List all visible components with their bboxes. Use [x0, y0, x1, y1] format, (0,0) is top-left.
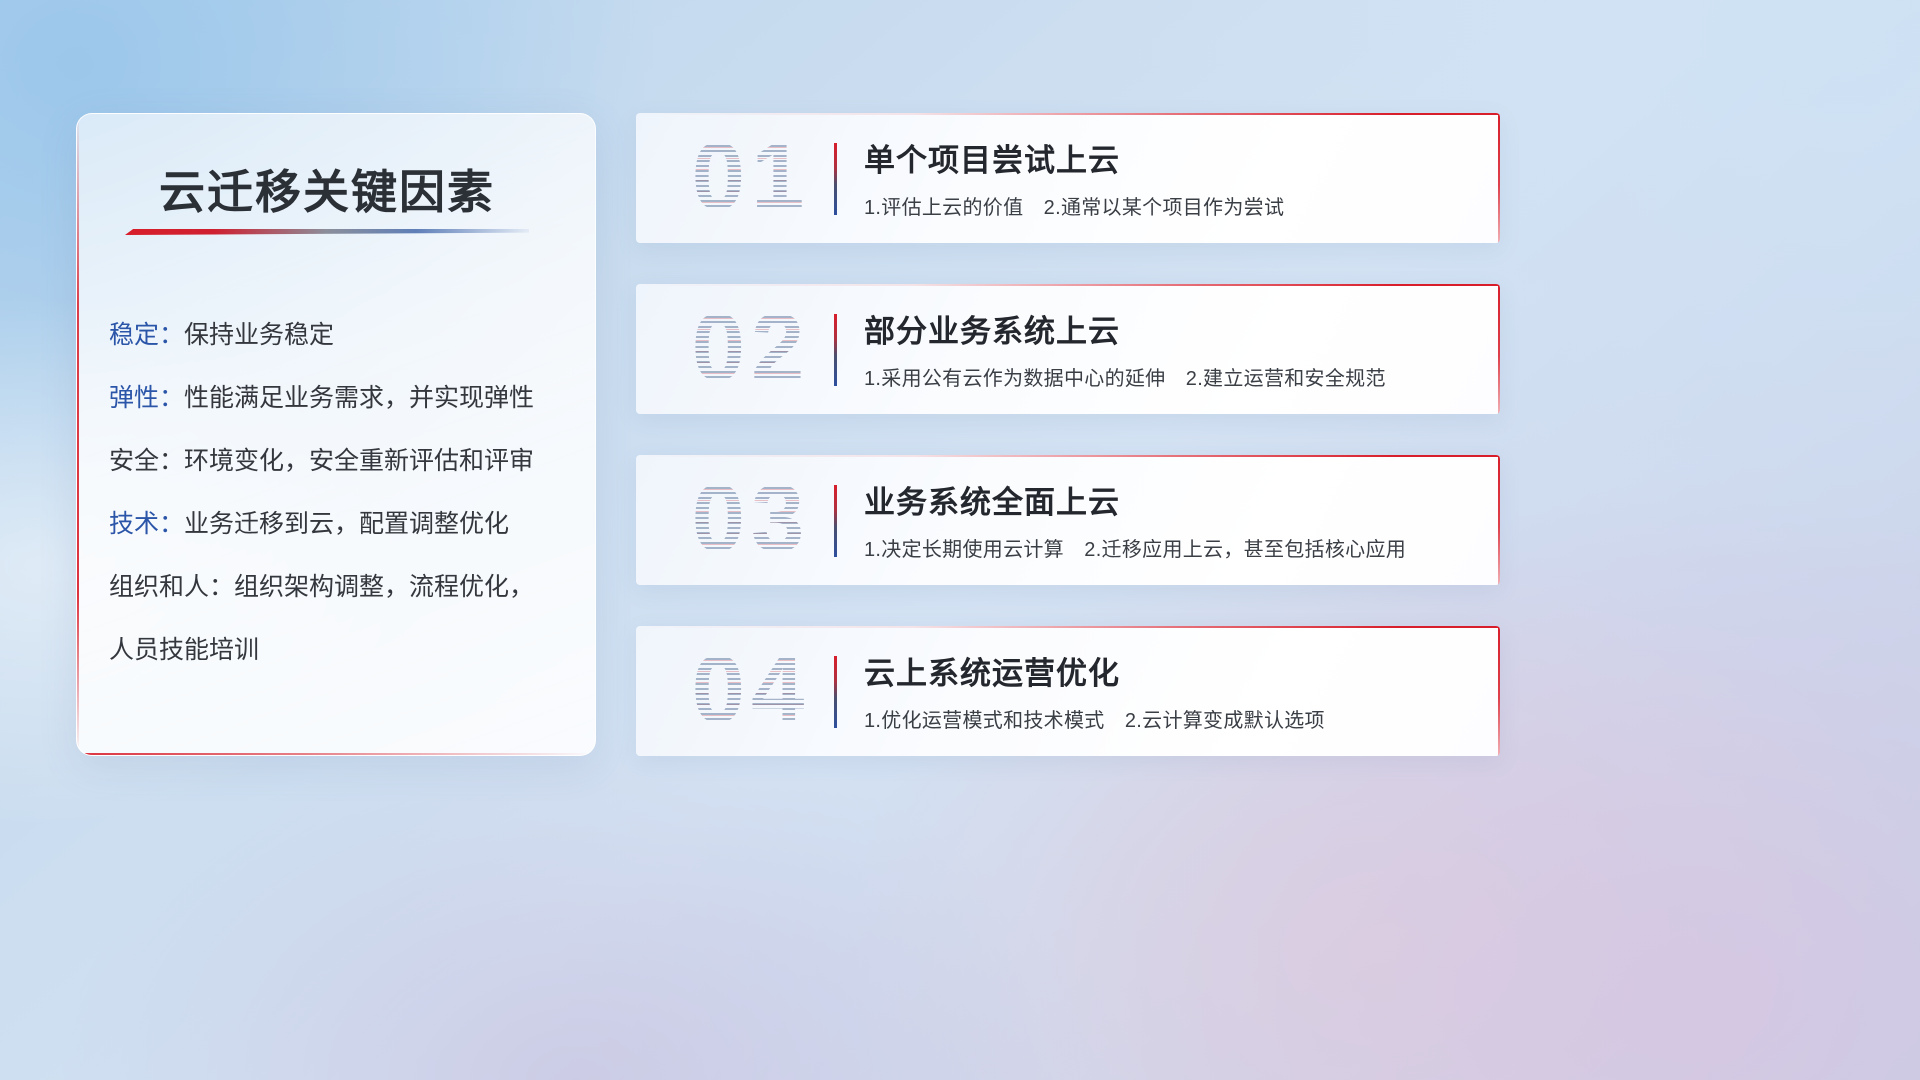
- step-divider-bar: [834, 656, 837, 728]
- step-number: 03: [656, 467, 846, 571]
- list-item-label: 组织和人：: [109, 573, 234, 601]
- migration-steps-list: 01 01 单个项目尝试上云 1.评估上云的价值 2.通常以某个项目作为尝试 0…: [636, 113, 1500, 797]
- list-item-text: 人员技能培训: [109, 636, 259, 664]
- step-title: 单个项目尝试上云: [864, 135, 1120, 180]
- list-item-text: 保持业务稳定: [184, 321, 334, 349]
- list-item-text: 性能满足业务需求，并实现弹性: [184, 384, 534, 412]
- step-number: 04: [656, 638, 846, 742]
- step-subtitle: 1.优化运营模式和技术模式 2.云计算变成默认选项: [864, 704, 1325, 733]
- list-item-text: 组织架构调整，流程优化，: [234, 573, 534, 601]
- list-item-text: 环境变化，安全重新评估和评审: [184, 447, 534, 475]
- step-subtitle: 1.评估上云的价值 2.通常以某个项目作为尝试: [864, 191, 1284, 220]
- key-factors-card: 云迁移关键因素 稳定：保持业务稳定 弹性：性能满足业务需求，并实现弹性 安全：环…: [76, 113, 596, 756]
- step-number: 01: [656, 125, 846, 229]
- card-top-accent-line: [636, 113, 1500, 115]
- list-item: 安全：环境变化，安全重新评估和评审: [109, 430, 579, 493]
- list-item-label: 安全：: [109, 447, 184, 475]
- step-subtitle: 1.决定长期使用云计算 2.迁移应用上云，甚至包括核心应用: [864, 533, 1406, 562]
- card-right-accent-line: [1498, 113, 1500, 243]
- list-item: 人员技能培训: [109, 619, 579, 682]
- page-title: 云迁移关键因素: [159, 156, 495, 222]
- key-factors-list: 稳定：保持业务稳定 弹性：性能满足业务需求，并实现弹性 安全：环境变化，安全重新…: [109, 304, 579, 682]
- list-item: 组织和人：组织架构调整，流程优化，: [109, 556, 579, 619]
- title-underline-rule: [125, 229, 529, 235]
- step-subtitle: 1.采用公有云作为数据中心的延伸 2.建立运营和安全规范: [864, 362, 1386, 391]
- card-right-accent-line: [1498, 284, 1500, 414]
- card-top-accent-line: [636, 626, 1500, 628]
- step-card-02[interactable]: 02 02 部分业务系统上云 1.采用公有云作为数据中心的延伸 2.建立运营和安…: [636, 284, 1500, 414]
- list-item-text: 业务迁移到云，配置调整优化: [184, 510, 509, 538]
- step-card-04[interactable]: 04 04 云上系统运营优化 1.优化运营模式和技术模式 2.云计算变成默认选项: [636, 626, 1500, 756]
- step-card-03[interactable]: 03 03 业务系统全面上云 1.决定长期使用云计算 2.迁移应用上云，甚至包括…: [636, 455, 1500, 585]
- list-item-label: 稳定：: [109, 321, 184, 349]
- card-top-accent-line: [636, 455, 1500, 457]
- step-title: 业务系统全面上云: [864, 477, 1120, 522]
- slide-root: 云迁移关键因素 稳定：保持业务稳定 弹性：性能满足业务需求，并实现弹性 安全：环…: [0, 0, 1920, 1080]
- list-item-label: 技术：: [109, 510, 184, 538]
- step-divider-bar: [834, 314, 837, 386]
- card-top-accent-line: [636, 284, 1500, 286]
- list-item: 弹性：性能满足业务需求，并实现弹性: [109, 367, 579, 430]
- step-divider-bar: [834, 485, 837, 557]
- step-divider-bar: [834, 143, 837, 215]
- step-card-01[interactable]: 01 01 单个项目尝试上云 1.评估上云的价值 2.通常以某个项目作为尝试: [636, 113, 1500, 243]
- card-right-accent-line: [1498, 455, 1500, 585]
- list-item: 稳定：保持业务稳定: [109, 304, 579, 367]
- step-title: 云上系统运营优化: [864, 648, 1120, 693]
- step-title: 部分业务系统上云: [864, 306, 1120, 351]
- list-item-label: 弹性：: [109, 384, 184, 412]
- card-right-accent-line: [1498, 626, 1500, 756]
- list-item: 技术：业务迁移到云，配置调整优化: [109, 493, 579, 556]
- step-number: 02: [656, 296, 846, 400]
